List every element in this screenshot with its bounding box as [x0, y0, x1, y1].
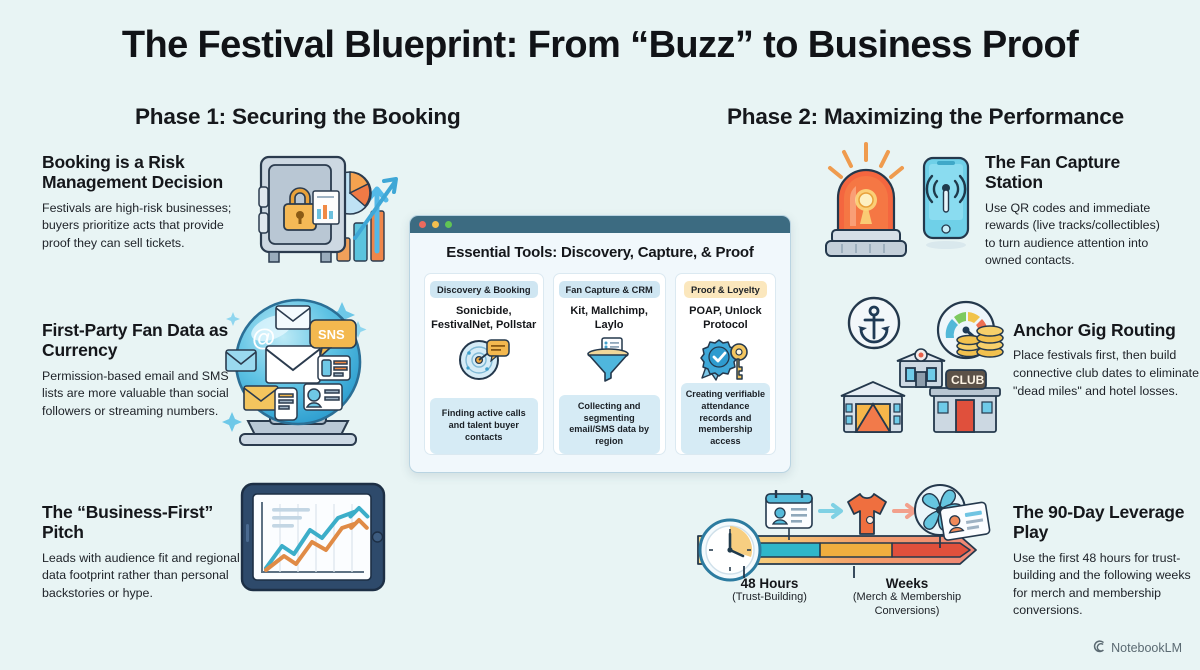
- safe-vault-analytics-illustration: [255, 143, 410, 268]
- left-block-first-party-data: First-Party Fan Data as Currency Permiss…: [42, 320, 242, 420]
- right-block-1-body: Use QR codes and immediate rewards (live…: [985, 200, 1171, 270]
- infographic-canvas: The Festival Blueprint: From “Buzz” to B…: [0, 0, 1200, 670]
- verified-badge-key-icon: [699, 337, 751, 383]
- timeline-marker-2-title: Weeks: [822, 576, 992, 591]
- column-chip-discovery: Discovery & Booking: [430, 281, 538, 298]
- right-block-90-day-leverage: The 90-Day Leverage Play Use the first 4…: [1013, 502, 1199, 620]
- funnel-data-icon: [586, 337, 632, 383]
- page-title: The Festival Blueprint: From “Buzz” to B…: [0, 24, 1200, 67]
- right-block-anchor-gig-routing: Anchor Gig Routing Place festivals first…: [1013, 320, 1199, 400]
- anchor-venues-routing-illustration: CLUB: [838, 296, 1016, 436]
- right-block-3-heading: The 90-Day Leverage Play: [1013, 502, 1199, 543]
- crystal-ball-contacts-illustration: @ SNS: [218, 288, 398, 448]
- notebooklm-watermark: NotebookLM: [1091, 639, 1182, 657]
- right-block-3-body: Use the first 48 hours for trust-buildin…: [1013, 550, 1199, 620]
- right-block-2-body: Place festivals first, then build connec…: [1013, 347, 1199, 400]
- right-block-2-heading: Anchor Gig Routing: [1013, 320, 1199, 340]
- svg-text:SNS: SNS: [318, 327, 345, 342]
- timeline-marker-48-hours: 48 Hours (Trust-Building): [712, 576, 827, 605]
- timeline-clock-merch-illustration: [692, 478, 992, 588]
- svg-text:CLUB: CLUB: [951, 373, 985, 387]
- column-chip-fan-capture: Fan Capture & CRM: [559, 281, 660, 298]
- column-desc-proof-loyalty: Creating verifiable attendance records a…: [681, 383, 770, 454]
- timeline-marker-2-subtitle: (Merch & Membership Conversions): [822, 591, 992, 619]
- right-block-1-heading: The Fan Capture Station: [985, 152, 1171, 193]
- tool-column-discovery: Discovery & Booking Sonicbide, FestivalN…: [424, 273, 544, 455]
- column-tools-proof-loyalty: POAP, Unlock Protocol: [681, 305, 770, 333]
- radar-scanner-icon: [457, 337, 511, 383]
- column-tools-discovery: Sonicbide, FestivalNet, Pollstar: [430, 305, 538, 333]
- right-block-fan-capture-station: The Fan Capture Station Use QR codes and…: [985, 152, 1171, 270]
- card-title: Essential Tools: Discovery, Capture, & P…: [424, 244, 776, 261]
- column-desc-discovery: Finding active calls and talent buyer co…: [430, 398, 538, 454]
- timeline-marker-1-subtitle: (Trust-Building): [712, 591, 827, 605]
- column-tools-fan-capture: Kit, Mallchimp, Laylo: [559, 305, 660, 333]
- left-block-booking-risk: Booking is a Risk Management Decision Fe…: [42, 152, 242, 252]
- phase-1-heading: Phase 1: Securing the Booking: [135, 104, 461, 130]
- tool-column-fan-capture: Fan Capture & CRM Kit, Mallchimp, Laylo …: [553, 273, 666, 455]
- left-block-2-body: Permission-based email and SMS lists are…: [42, 368, 242, 421]
- left-block-2-heading: First-Party Fan Data as Currency: [42, 320, 242, 361]
- window-close-dot[interactable]: [419, 221, 426, 228]
- left-block-3-body: Leads with audience fit and regional dat…: [42, 550, 242, 603]
- left-block-1-body: Festivals are high-risk businesses; buye…: [42, 200, 242, 253]
- column-chip-proof-loyalty: Proof & Loyelty: [684, 281, 767, 298]
- left-block-3-heading: The “Business-First” Pitch: [42, 502, 242, 543]
- window-minimize-dot[interactable]: [432, 221, 439, 228]
- left-block-1-heading: Booking is a Risk Management Decision: [42, 152, 242, 193]
- tool-column-proof-loyalty: Proof & Loyelty POAP, Unlock Protocol: [675, 273, 776, 455]
- column-desc-fan-capture: Collecting and segmenting email/SMS data…: [559, 395, 660, 454]
- timeline-marker-1-title: 48 Hours: [712, 576, 827, 591]
- window-chrome-bar: [410, 216, 790, 233]
- notebooklm-spiral-icon: [1091, 639, 1106, 657]
- window-maximize-dot[interactable]: [445, 221, 452, 228]
- essential-tools-card: Essential Tools: Discovery, Capture, & P…: [409, 215, 791, 473]
- left-block-business-first-pitch: The “Business-First” Pitch Leads with au…: [42, 502, 242, 602]
- notebooklm-label: NotebookLM: [1111, 641, 1182, 655]
- timeline-marker-weeks: Weeks (Merch & Membership Conversions): [822, 576, 992, 619]
- phase-2-heading: Phase 2: Maximizing the Performance: [727, 104, 1124, 130]
- siren-and-phone-broadcast-illustration: [822, 140, 982, 270]
- tablet-growth-chart-illustration: [232, 478, 397, 596]
